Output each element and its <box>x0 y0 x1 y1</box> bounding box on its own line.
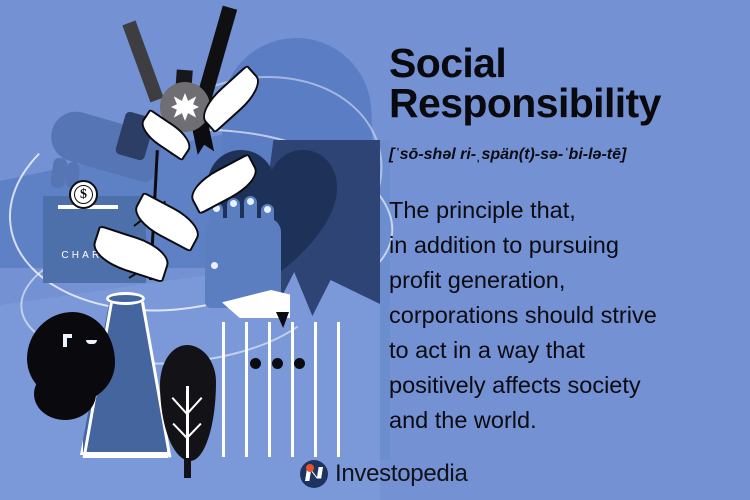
fence-line-3 <box>268 322 271 457</box>
tree-branch-main <box>186 386 189 458</box>
fingernail-4 <box>264 206 271 213</box>
definition-line: in addition to pursuing <box>389 228 729 263</box>
brand-name: Investopedia <box>335 460 468 488</box>
definition-card: CHARITY $ <box>0 0 750 500</box>
fingernail-3 <box>247 198 254 205</box>
medal-star-icon <box>171 93 199 121</box>
medal-ribbon-left <box>122 21 163 103</box>
fence-line-6 <box>337 322 340 457</box>
thumbnail <box>211 262 218 269</box>
investopedia-logo-icon <box>300 460 328 488</box>
title-line-2: Responsibility <box>389 80 661 126</box>
dollar-coin-icon: $ <box>69 180 98 209</box>
fence-line-5 <box>314 322 317 457</box>
fence-dot-3 <box>294 358 305 369</box>
page-title: Social Responsibility <box>389 44 719 124</box>
definition-line: profit generation, <box>389 263 729 298</box>
fence-dot-1 <box>250 358 261 369</box>
vase-lip <box>106 292 145 305</box>
fence-line-2 <box>245 322 248 457</box>
fingernail-2 <box>230 200 237 207</box>
investopedia-logo: Investopedia <box>300 459 468 489</box>
logo-accent-dot <box>306 464 314 472</box>
definition-line: The principle that, <box>389 193 729 228</box>
vase-base <box>83 455 168 458</box>
pronunciation: [ˈsō-shəl ri-ˌspän(t)-sə-ˈbi-lə-tē] <box>389 146 719 164</box>
fence-line-4 <box>291 322 294 457</box>
definition-line: and the world. <box>389 403 729 438</box>
definition-line: corporations should strive <box>389 298 729 333</box>
definition-text: The principle that, in addition to pursu… <box>389 193 729 438</box>
bush-mark-2 <box>63 334 72 338</box>
definition-line: to act in a way that <box>389 333 729 368</box>
definition-line: positively affects society <box>389 368 729 403</box>
fence-line-1 <box>222 322 225 457</box>
fence-dot-2 <box>272 358 283 369</box>
bush-icon-lower <box>34 368 96 420</box>
